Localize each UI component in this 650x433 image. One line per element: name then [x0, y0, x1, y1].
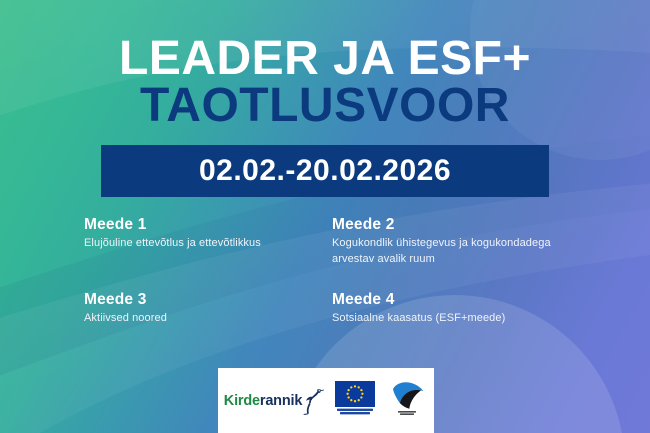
measure-3-title: Meede 3	[84, 291, 321, 308]
measure-2-title: Meede 2	[332, 216, 566, 233]
kirderannik-wordmark: Kirderannik	[224, 393, 302, 409]
date-range-text: 02.02.-20.02.2026	[199, 154, 451, 188]
estonia-leader-logo	[386, 380, 428, 421]
measure-1-description: Elujõuline ettevõtlus ja ettevõtlikkus	[84, 236, 321, 252]
headline: LEADER JA ESF+ TAOTLUSVOOR	[0, 36, 650, 128]
measure-3-description: Aktiivsed noored	[84, 311, 321, 327]
estonia-swallow-icon	[386, 380, 428, 416]
headline-line-2: TAOTLUSVOOR	[0, 83, 650, 128]
kirderannik-text-part1: Kirde	[224, 393, 260, 409]
eu-flag-icon	[335, 381, 375, 415]
logo-bar: Kirderannik	[218, 368, 434, 433]
measure-1-title: Meede 1	[84, 216, 321, 233]
date-banner: 02.02.-20.02.2026	[101, 145, 549, 197]
measures-row-2: Meede 3 Aktiivsed noored Meede 4 Sotsiaa…	[84, 291, 574, 327]
kirderannik-text-part2: rannik	[260, 393, 302, 409]
poster-banner: LEADER JA ESF+ TAOTLUSVOOR 02.02.-20.02.…	[0, 0, 650, 433]
measures-row-1: Meede 1 Elujõuline ettevõtlus ja ettevõt…	[84, 216, 574, 268]
measure-4-description: Sotsiaalne kaasatus (ESF+meede)	[332, 311, 566, 327]
kirderannik-logo: Kirderannik	[224, 387, 324, 415]
measure-item-1: Meede 1 Elujõuline ettevõtlus ja ettevõt…	[84, 216, 329, 268]
measure-item-4: Meede 4 Sotsiaalne kaasatus (ESF+meede)	[329, 291, 574, 327]
measure-item-2: Meede 2 Kogukondlik ühistegevus ja koguk…	[329, 216, 574, 268]
measure-4-title: Meede 4	[332, 291, 566, 308]
measure-item-3: Meede 3 Aktiivsed noored	[84, 291, 329, 327]
stork-bird-icon	[302, 387, 324, 415]
eu-flag-logo	[335, 381, 375, 420]
headline-line-1: LEADER JA ESF+	[0, 36, 650, 81]
measures-grid: Meede 1 Elujõuline ettevõtlus ja ettevõt…	[84, 216, 574, 327]
measure-2-description: Kogukondlik ühistegevus ja kogukondadega…	[332, 236, 566, 268]
